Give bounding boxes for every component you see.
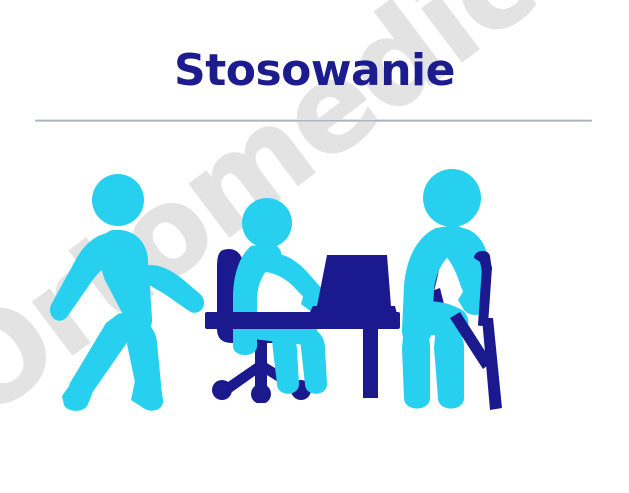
walking-person-icon [34, 168, 209, 418]
illustration-group [0, 0, 629, 493]
person-at-desk-icon [205, 198, 400, 408]
person-at-desk-svg [205, 198, 400, 403]
seated-person [233, 198, 331, 394]
person-with-crutches-svg [388, 166, 516, 416]
slide-canvas: Ortomedico.pl Stosowanie [0, 0, 629, 493]
stooped-person [402, 169, 490, 409]
person-with-crutches-icon [388, 166, 516, 421]
walking-person-svg [34, 168, 209, 413]
